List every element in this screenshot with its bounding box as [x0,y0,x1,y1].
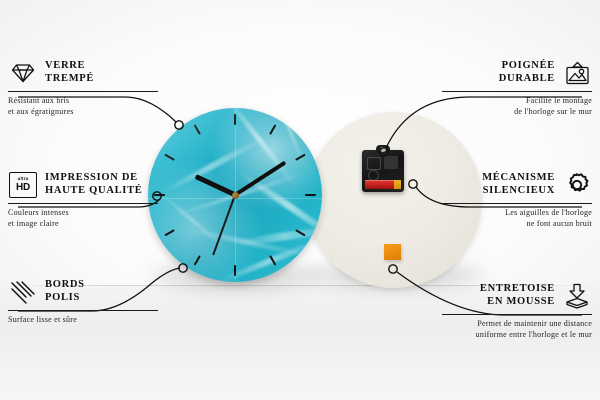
hd-badge-box: ultra HD [9,172,37,198]
ultra-hd-badge-icon: ultra HD [8,170,38,200]
hour-tick [269,124,276,135]
movement-detail-a [367,157,381,170]
hour-tick [234,265,236,276]
feature-title: VERRE TREMPÉ [45,60,158,86]
clock-front-view [148,108,322,282]
foam-spacer-pad [384,244,401,260]
polished-edges-icon [8,277,38,307]
feature-title: ENTRETOISE EN MOUSSE [442,283,555,309]
aa-battery [365,180,401,189]
feature-divider [8,91,158,92]
feature-impression-hd: ultra HD IMPRESSION DE HAUTE QUALITÉ Cou… [8,170,158,229]
diamond-icon [8,58,38,88]
feather-streak [152,186,231,253]
feature-header: MÉCANISME SILENCIEUX [442,170,592,200]
glass-seam-horizontal [148,198,322,199]
feature-description: Surface lisse et sûre [8,314,158,325]
feature-divider [8,203,158,204]
hour-tick [305,194,316,196]
hour-hand [194,174,236,197]
feature-mecanisme-silencieux: MÉCANISME SILENCIEUX Les aiguilles de l'… [442,170,592,229]
feature-poignee-durable: POIGNÉE DURABLE Facilite le montage de l… [442,58,592,117]
infographic-stage: VERRE TREMPÉ Résistant aux bris et aux é… [0,0,600,400]
feature-description: Facilite le montage de l'horloge sur le … [442,95,592,117]
gear-icon [562,170,592,200]
hour-tick [164,229,175,236]
feature-divider [442,91,592,92]
hanging-picture-icon [562,58,592,88]
feature-divider [8,310,158,311]
quartz-movement [362,150,404,192]
hour-tick [194,255,201,266]
feature-title: MÉCANISME SILENCIEUX [442,172,555,198]
hour-tick [234,114,236,125]
feature-header: ENTRETOISE EN MOUSSE [442,281,592,311]
hour-tick [164,154,175,161]
feature-header: ultra HD IMPRESSION DE HAUTE QUALITÉ [8,170,158,200]
movement-detail-b [384,156,398,169]
hands-center-cap [232,192,239,199]
feature-description: Couleurs intenses et image claire [8,207,158,229]
feature-header: VERRE TREMPÉ [8,58,158,88]
feature-description: Résistant aux bris et aux égratignures [8,95,158,117]
feature-divider [442,203,592,204]
feature-description: Les aiguilles de l'horloge ne font aucun… [442,207,592,229]
feature-header: POIGNÉE DURABLE [442,58,592,88]
feature-divider [442,314,592,315]
minute-hand [234,161,286,197]
hanging-hook [376,145,390,152]
battery-terminal [394,180,401,189]
feature-bords-polis: BORDS POLIS Surface lisse et sûre [8,277,158,325]
hour-tick [194,124,201,135]
feature-header: BORDS POLIS [8,277,158,307]
feature-title: IMPRESSION DE HAUTE QUALITÉ [45,172,158,198]
feature-entretoise-mousse: ENTRETOISE EN MOUSSE Permet de maintenir… [442,281,592,340]
feature-title: POIGNÉE DURABLE [442,60,555,86]
hd-badge-main-text: HD [16,183,30,193]
feature-description: Permet de maintenir une distance uniform… [442,318,592,340]
foam-spacer-press-icon [562,281,592,311]
feature-title: BORDS POLIS [45,279,158,305]
feature-verre-trempe: VERRE TREMPÉ Résistant aux bris et aux é… [8,58,158,117]
